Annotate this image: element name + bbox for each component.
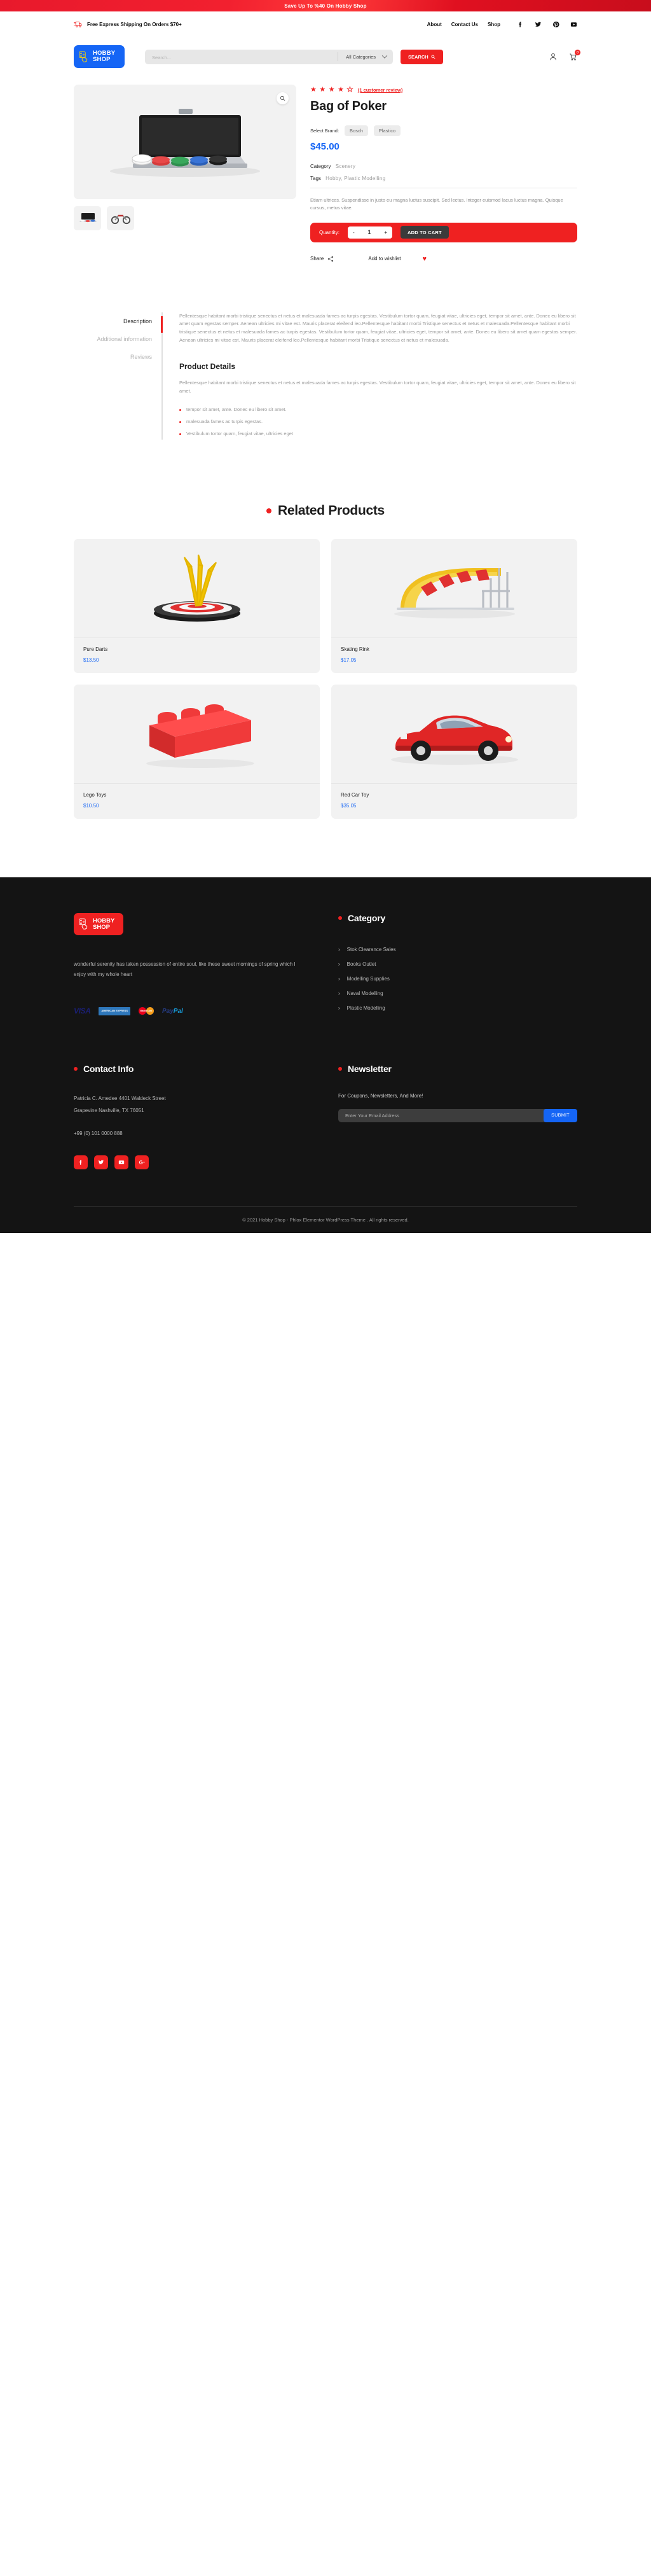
footer-link-books-outlet[interactable]: Books Outlet bbox=[347, 961, 376, 967]
chevron-right-icon: › bbox=[338, 961, 340, 967]
add-to-cart-button[interactable]: ADD TO CART bbox=[401, 226, 449, 239]
footer-phone[interactable]: +99 (0) 101 0000 888 bbox=[74, 1131, 303, 1136]
bullet-dot-icon bbox=[338, 1067, 342, 1071]
bullet-dot-icon bbox=[74, 1067, 78, 1071]
footer-link-modelling-supplies[interactable]: Modelling Supplies bbox=[347, 976, 390, 982]
site-logo[interactable]: HOBBY SHOP bbox=[74, 45, 125, 68]
chevron-down-icon bbox=[382, 53, 387, 58]
top-social-links bbox=[517, 21, 577, 28]
shipping-notice: Free Express Shipping On Orders $70+ bbox=[74, 21, 182, 28]
red-classic-car-image bbox=[381, 697, 528, 770]
tab-active-indicator bbox=[161, 316, 163, 333]
mastercard-icon: MasterCard bbox=[139, 1006, 154, 1015]
product-price: $45.00 bbox=[310, 141, 577, 152]
tab-additional-information[interactable]: Additional information bbox=[97, 330, 152, 348]
share-icon[interactable] bbox=[327, 256, 334, 262]
footer-newsletter-title: Newsletter bbox=[348, 1064, 392, 1074]
footer-link-stok-clearance-sales[interactable]: Stok Clearance Sales bbox=[347, 947, 396, 952]
account-button[interactable] bbox=[549, 52, 558, 61]
youtube-icon[interactable] bbox=[570, 21, 577, 28]
star-2: ★ bbox=[319, 87, 325, 94]
product-card-price: $13.50 bbox=[83, 657, 310, 663]
product-rating: ★ ★ ★ ★ ★ (1 customer review) bbox=[310, 87, 577, 94]
bullet-dot-icon bbox=[338, 916, 342, 920]
footer-link-plastic-modelling[interactable]: Plastic Modelling bbox=[347, 1005, 385, 1011]
footer-contact-header: Contact Info bbox=[74, 1064, 303, 1074]
paypal-label-2: Pal bbox=[174, 1008, 183, 1015]
category-select-value: All Categories bbox=[346, 54, 376, 60]
list-item: ›Modelling Supplies bbox=[338, 971, 577, 986]
site-header: HOBBY SHOP All Categories SEARCH bbox=[74, 37, 577, 76]
search-button-label: SEARCH bbox=[408, 54, 428, 60]
dice-puzzle-icon bbox=[78, 51, 90, 63]
cart-button[interactable]: 0 bbox=[568, 52, 577, 61]
quantity-decrease-button[interactable]: - bbox=[353, 230, 355, 235]
quantity-increase-button[interactable]: + bbox=[384, 230, 387, 235]
poker-chip-case-thumb-icon bbox=[77, 211, 99, 225]
wishlist-label[interactable]: Add to wishlist bbox=[368, 256, 401, 261]
product-gallery bbox=[74, 85, 296, 263]
related-products-grid: Pure Darts $13.50 bbox=[74, 539, 577, 819]
site-footer: HOBBY SHOP wonderful serenity has taken … bbox=[0, 877, 651, 1233]
search-bar: All Categories bbox=[145, 50, 393, 64]
search-icon bbox=[431, 55, 435, 59]
product-card-price: $35.05 bbox=[341, 803, 568, 809]
skate-ramp-image bbox=[381, 550, 528, 627]
description-body: Pellentesque habitant morbi tristique se… bbox=[179, 312, 577, 344]
zoom-image-button[interactable] bbox=[277, 92, 289, 104]
footer-logo-line-2: SHOP bbox=[93, 924, 114, 931]
product-actions: Share Add to wishlist ♥ bbox=[310, 255, 577, 263]
brand-option-bosch[interactable]: Bosch bbox=[345, 125, 368, 136]
footer-address-line-1: Patricia C. Amedee 4401 Waldeck Street bbox=[74, 1093, 303, 1104]
category-select[interactable]: All Categories bbox=[338, 52, 393, 61]
chevron-right-icon: › bbox=[338, 976, 340, 982]
lego-brick-image bbox=[130, 697, 264, 770]
google-plus-icon[interactable] bbox=[135, 1155, 149, 1169]
product-tabs: Description Additional information Revie… bbox=[74, 263, 577, 440]
related-products-header: Related Products bbox=[74, 440, 577, 539]
related-products-title: Related Products bbox=[278, 503, 385, 519]
list-item: ›Plastic Modelling bbox=[338, 1001, 577, 1015]
product-details-body: Pellentesque habitant morbi tristique se… bbox=[179, 379, 577, 395]
footer-contact-title: Contact Info bbox=[83, 1064, 134, 1074]
product-category: Category Scenery bbox=[310, 164, 577, 169]
poker-chip-case-image bbox=[102, 104, 268, 180]
bullet-dot-icon bbox=[266, 508, 271, 513]
search-input[interactable] bbox=[152, 55, 331, 60]
list-item: malesuada fames ac turpis egestas. bbox=[179, 415, 577, 428]
product-info: ★ ★ ★ ★ ★ (1 customer review) Bag of Pok… bbox=[310, 85, 577, 263]
tab-list: Description Additional information Revie… bbox=[74, 312, 163, 440]
brand-option-plastico[interactable]: Plastico bbox=[374, 125, 401, 136]
thumbnail-2[interactable] bbox=[107, 206, 134, 230]
product-section: ★ ★ ★ ★ ★ (1 customer review) Bag of Pok… bbox=[74, 76, 577, 263]
footer-about-text: wonderful serenity has taken possession … bbox=[74, 959, 303, 980]
product-card-image bbox=[331, 685, 577, 783]
promo-text: Save Up To %40 On Hobby Shop bbox=[284, 3, 366, 9]
add-to-cart-bar: Quantity: - 1 + ADD TO CART bbox=[310, 223, 577, 242]
page-root: Save Up To %40 On Hobby Shop Free Expres… bbox=[0, 0, 651, 1233]
product-card-price: $10.50 bbox=[83, 803, 310, 809]
tab-reviews[interactable]: Reviews bbox=[130, 348, 152, 366]
share-label: Share bbox=[310, 256, 324, 261]
top-nav: About Contact Us Shop bbox=[427, 22, 500, 27]
product-card-red-car-toy[interactable]: Red Car Toy $35.05 bbox=[331, 685, 577, 819]
product-details-list: tempor sit amet, ante. Donec eu libero s… bbox=[179, 403, 577, 440]
product-card-pure-darts[interactable]: Pure Darts $13.50 bbox=[74, 539, 320, 673]
tab-description[interactable]: Description bbox=[123, 312, 152, 330]
visa-icon: VISA bbox=[74, 1007, 90, 1015]
product-tags: Tags Hobby, Plastic Modelling bbox=[310, 176, 577, 181]
copyright-bar: © 2021 Hobby Shop - Phlox Elementor Word… bbox=[74, 1206, 577, 1233]
product-card-image bbox=[331, 539, 577, 637]
nav-item-contact-us[interactable]: Contact Us bbox=[451, 22, 478, 27]
utility-bar: Free Express Shipping On Orders $70+ Abo… bbox=[74, 11, 577, 37]
paypal-icon: PayPal bbox=[162, 1007, 183, 1015]
page-title: Bag of Poker bbox=[310, 99, 577, 114]
product-card-name: Red Car Toy bbox=[341, 792, 568, 798]
mastercard-label: MasterCard bbox=[139, 1006, 154, 1015]
footer-link-naval-modelling[interactable]: Naval Modelling bbox=[347, 991, 383, 996]
chevron-right-icon: › bbox=[338, 991, 340, 996]
product-card-price: $17.05 bbox=[341, 657, 568, 663]
twitter-icon[interactable] bbox=[94, 1155, 108, 1169]
truck-icon bbox=[74, 21, 83, 28]
facebook-icon[interactable] bbox=[517, 21, 524, 28]
user-icon bbox=[549, 52, 558, 61]
product-card-image bbox=[74, 685, 320, 783]
paypal-label-1: Pay bbox=[162, 1008, 174, 1015]
brand-label: Select Brand: bbox=[310, 128, 339, 134]
pinterest-icon[interactable] bbox=[552, 21, 559, 28]
product-main-image[interactable] bbox=[74, 85, 296, 199]
star-3: ★ bbox=[329, 87, 334, 94]
shipping-text: Free Express Shipping On Orders $70+ bbox=[87, 22, 182, 27]
product-short-description: Etiam ultrices. Suspendisse in justo eu … bbox=[310, 197, 577, 212]
darts-board-image bbox=[127, 548, 267, 628]
tags-label: Tags bbox=[310, 176, 321, 181]
motorcycle-thumb-icon bbox=[110, 211, 132, 225]
footer-newsletter-header: Newsletter bbox=[338, 1064, 577, 1074]
review-count-link[interactable]: (1 customer review) bbox=[358, 87, 402, 93]
newsletter-email-input[interactable] bbox=[345, 1113, 544, 1118]
newsletter-submit-button[interactable]: SUBMIT bbox=[544, 1109, 577, 1122]
dice-puzzle-icon bbox=[78, 918, 90, 930]
star-5: ★ bbox=[347, 87, 353, 94]
star-4: ★ bbox=[338, 87, 343, 94]
product-card-name: Pure Darts bbox=[83, 646, 310, 652]
tab-panel-description: Pellentesque habitant morbi tristique se… bbox=[163, 312, 577, 440]
footer-category-title: Category bbox=[348, 913, 385, 923]
product-thumbnails bbox=[74, 206, 296, 230]
newsletter-subtitle: For Coupons, Newsletters, And More! bbox=[338, 1093, 577, 1099]
cart-count-badge: 0 bbox=[575, 50, 580, 55]
footer-logo[interactable]: HOBBY SHOP bbox=[74, 913, 123, 935]
logo-line-2: SHOP bbox=[93, 57, 115, 63]
magnifier-icon bbox=[280, 95, 285, 101]
product-card-name: Skating Rink bbox=[341, 646, 568, 652]
quantity-value[interactable]: 1 bbox=[368, 229, 371, 235]
list-item: tempor sit amet, ante. Donec eu libero s… bbox=[179, 403, 577, 415]
search-button[interactable]: SEARCH bbox=[401, 50, 443, 64]
chevron-right-icon: › bbox=[338, 1005, 340, 1011]
list-item: ›Naval Modelling bbox=[338, 986, 577, 1001]
heart-icon[interactable]: ♥ bbox=[423, 255, 427, 263]
product-card-lego-toys[interactable]: Lego Toys $10.50 bbox=[74, 685, 320, 819]
chevron-right-icon: › bbox=[338, 947, 340, 952]
category-value[interactable]: Scenery bbox=[336, 164, 355, 169]
nav-item-shop[interactable]: Shop bbox=[488, 22, 500, 27]
newsletter-form: SUBMIT bbox=[338, 1109, 577, 1122]
list-item: ›Stok Clearance Sales bbox=[338, 942, 577, 957]
info-divider bbox=[310, 188, 577, 188]
list-item: Vestibulum tortor quam, feugiat vitae, u… bbox=[179, 428, 577, 440]
facebook-icon[interactable] bbox=[74, 1155, 88, 1169]
list-item: ›Books Outlet bbox=[338, 957, 577, 971]
product-card-image bbox=[74, 539, 320, 637]
footer-social-links bbox=[74, 1155, 303, 1169]
footer-category-header: Category bbox=[338, 913, 577, 923]
twitter-icon[interactable] bbox=[535, 21, 542, 28]
footer-category-list: ›Stok Clearance Sales ›Books Outlet ›Mod… bbox=[338, 942, 577, 1015]
star-1: ★ bbox=[310, 87, 316, 94]
promo-banner: Save Up To %40 On Hobby Shop bbox=[0, 0, 651, 11]
nav-item-about[interactable]: About bbox=[427, 22, 442, 27]
product-card-skating-rink[interactable]: Skating Rink $17.05 bbox=[331, 539, 577, 673]
payment-methods: VISA AMERICAN EXPRESS MasterCard PayPal bbox=[74, 1006, 303, 1015]
thumbnail-1[interactable] bbox=[74, 206, 101, 230]
copyright-text: © 2021 Hobby Shop - Phlox Elementor Word… bbox=[242, 1217, 409, 1223]
brand-selector: Select Brand: Bosch Plastico bbox=[310, 125, 577, 136]
product-card-name: Lego Toys bbox=[83, 792, 310, 798]
product-details-title: Product Details bbox=[179, 362, 577, 371]
footer-address-line-2: Grapevine Nashville, TX 76051 bbox=[74, 1105, 303, 1117]
amex-icon: AMERICAN EXPRESS bbox=[99, 1007, 130, 1015]
youtube-icon[interactable] bbox=[114, 1155, 128, 1169]
tags-value[interactable]: Hobby, Plastic Modelling bbox=[325, 176, 385, 181]
category-label: Category bbox=[310, 164, 331, 169]
quantity-stepper[interactable]: - 1 + bbox=[348, 226, 392, 239]
quantity-label: Quantity: bbox=[319, 230, 339, 235]
